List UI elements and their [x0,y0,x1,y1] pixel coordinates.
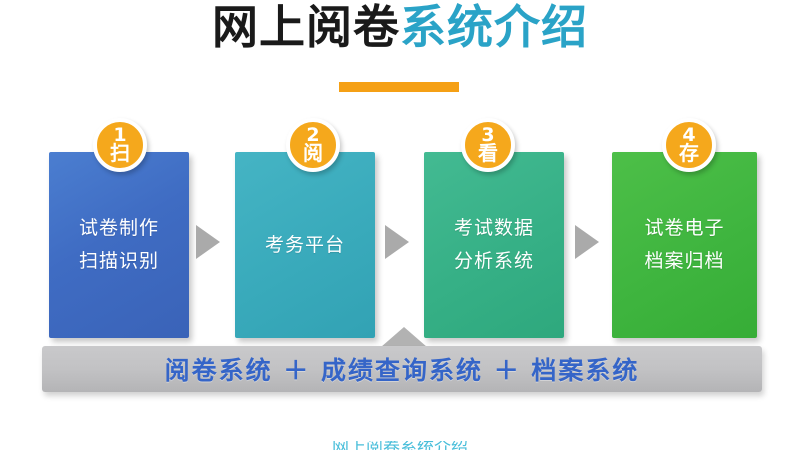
step-box-3-line-1: 考试数据 [454,212,534,245]
step-box-1-line-2: 扫描识别 [79,245,159,278]
summary-bar-label: 阅卷系统 ＋ 成绩查询系统 ＋ 档案系统 [165,351,640,387]
step-box-4-line-2: 档案归档 [644,245,724,278]
arrow-right-icon-3 [575,225,599,259]
page-title: 网上阅卷系统介绍 [0,0,800,58]
step-badge-4-char: 存 [679,143,699,163]
footer-clipped-text: 网上阅卷系统介绍 [0,441,800,450]
step-badge-4: 4 存 [662,118,716,172]
step-box-3[interactable]: 考试数据 分析系统 [424,152,564,338]
arrow-right-icon-2 [385,225,409,259]
page-title-primary: 网上阅卷 [212,0,400,54]
step-box-1[interactable]: 试卷制作 扫描识别 [49,152,189,338]
footer-clipped-label: 网上阅卷系统介绍 [0,441,800,450]
arrow-right-icon-1 [196,225,220,259]
step-badge-1: 1 扫 [93,118,147,172]
arrow-up-icon [381,327,427,347]
summary-bar: 阅卷系统 ＋ 成绩查询系统 ＋ 档案系统 [42,346,762,392]
step-badge-2: 2 阅 [286,118,340,172]
step-box-2-line-1: 考务平台 [265,229,345,262]
step-box-3-line-2: 分析系统 [454,245,534,278]
title-underline-bar [339,82,459,92]
step-badge-3-char: 看 [478,143,498,163]
page-title-accent: 系统介绍 [400,0,588,54]
step-badge-3: 3 看 [461,118,515,172]
slide-canvas: 网上阅卷系统介绍 试卷制作 扫描识别 考务平台 考试数据 分析系统 试卷电子 档… [0,0,800,450]
step-badge-2-char: 阅 [303,143,323,163]
step-box-2[interactable]: 考务平台 [235,152,375,338]
step-badge-1-char: 扫 [110,143,130,163]
step-box-1-line-1: 试卷制作 [79,212,159,245]
step-box-4-line-1: 试卷电子 [644,212,724,245]
step-box-4[interactable]: 试卷电子 档案归档 [612,152,757,338]
